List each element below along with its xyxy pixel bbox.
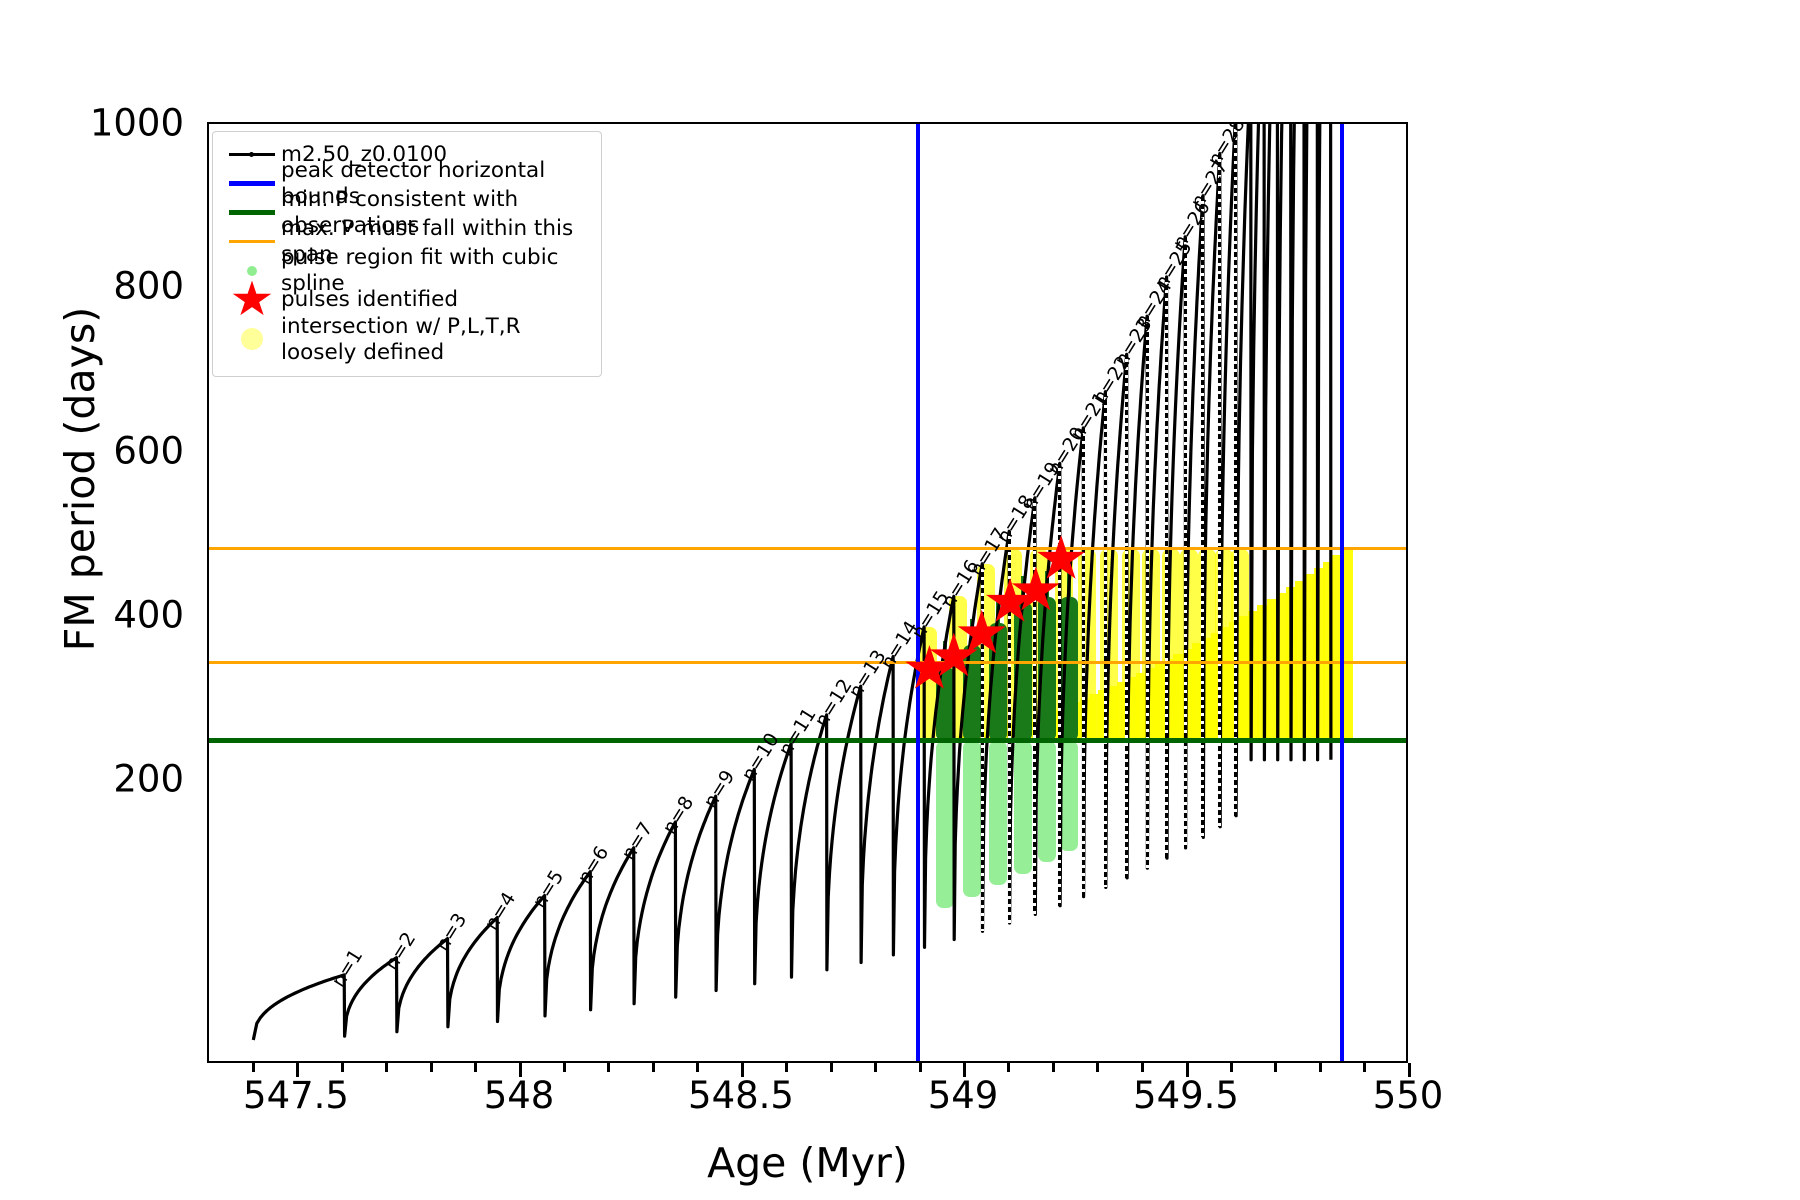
x-tick-minor: [1096, 1063, 1099, 1072]
x-tick-minor: [919, 1063, 922, 1072]
pulse-spike: [1033, 498, 1036, 915]
legend-item-intersection: intersection w/ P,L,T,R loosely defined: [223, 314, 591, 366]
y-tick-label-400: 400: [113, 594, 184, 637]
x-tick-major: [741, 1063, 744, 1077]
x-tick-minor: [563, 1063, 566, 1072]
x-tick-minor: [696, 1063, 699, 1072]
y-tick-label-600: 600: [113, 430, 184, 473]
line-with-dot-icon: [223, 141, 281, 169]
x-tick-major: [1186, 1063, 1189, 1077]
x-tick-label-549-5: 549.5: [1133, 1074, 1239, 1117]
x-axis-label: Age (Myr): [207, 1139, 1408, 1187]
legend-label: intersection w/ P,L,T,R loosely defined: [281, 314, 521, 366]
red-star-icon: [223, 286, 281, 314]
pulse-spike: [1218, 154, 1221, 827]
x-tick-minor: [785, 1063, 788, 1072]
legend-item-spline-fit: pulse region fit with cubic spline: [223, 256, 591, 285]
peak-detector-bound-line: [916, 124, 920, 1061]
green-dot-icon: [223, 257, 281, 285]
x-tick-label-548-0: 548: [484, 1074, 555, 1117]
pulse-spike: [1125, 354, 1128, 877]
x-tick-major: [296, 1063, 299, 1077]
peak-detector-bound-line: [1340, 124, 1344, 1061]
x-tick-label-547-5: 547.5: [243, 1074, 349, 1117]
x-tick-minor: [874, 1063, 877, 1072]
x-tick-minor: [607, 1063, 610, 1072]
x-tick-minor: [385, 1063, 388, 1072]
pulse-spike: [1146, 316, 1149, 868]
x-tick-label-548-5: 548.5: [688, 1074, 794, 1117]
x-tick-minor: [341, 1063, 344, 1072]
x-tick-minor: [1141, 1063, 1144, 1072]
orange-line-icon: [223, 228, 281, 256]
x-tick-label-550-0: 550: [1373, 1074, 1444, 1117]
y-tick-label-200: 200: [113, 758, 184, 801]
blue-line-icon: [223, 170, 281, 198]
max-period-span-line: [209, 547, 1406, 550]
x-tick-minor: [252, 1063, 255, 1072]
y-tick-label-800: 800: [113, 265, 184, 308]
x-tick-label-549-0: 549: [928, 1074, 999, 1117]
pulse-spike: [1058, 463, 1061, 905]
x-tick-major: [1408, 1063, 1411, 1077]
yellow-dot-icon: [223, 314, 281, 364]
pulse-spike: [1234, 124, 1237, 816]
min-period-line: [209, 738, 1406, 743]
legend-label: pulses identified: [281, 287, 458, 313]
green-line-icon: [223, 199, 281, 227]
pulse-spike: [1184, 237, 1187, 848]
figure-root: FM period (days) Age (Myr) 1000 800 600 …: [0, 0, 1800, 1200]
x-tick-minor: [474, 1063, 477, 1072]
x-tick-minor: [652, 1063, 655, 1072]
x-tick-minor: [1319, 1063, 1322, 1072]
x-tick-major: [963, 1063, 966, 1077]
x-tick-minor: [1052, 1063, 1055, 1072]
x-tick-minor: [1363, 1063, 1366, 1072]
legend: m2.50_z0.0100 peak detector horizontal b…: [212, 131, 602, 377]
x-tick-major: [519, 1063, 522, 1077]
max-period-span-line: [209, 661, 1406, 664]
pulse-spike: [1165, 277, 1168, 858]
x-tick-minor: [830, 1063, 833, 1072]
x-tick-minor: [1007, 1063, 1010, 1072]
x-tick-minor: [1230, 1063, 1233, 1072]
x-tick-minor: [1274, 1063, 1277, 1072]
pulse-spike: [1104, 392, 1107, 888]
y-tick-label-1000: 1000: [90, 102, 184, 145]
y-axis-label: FM period (days): [56, 99, 104, 859]
x-tick-minor: [430, 1063, 433, 1072]
